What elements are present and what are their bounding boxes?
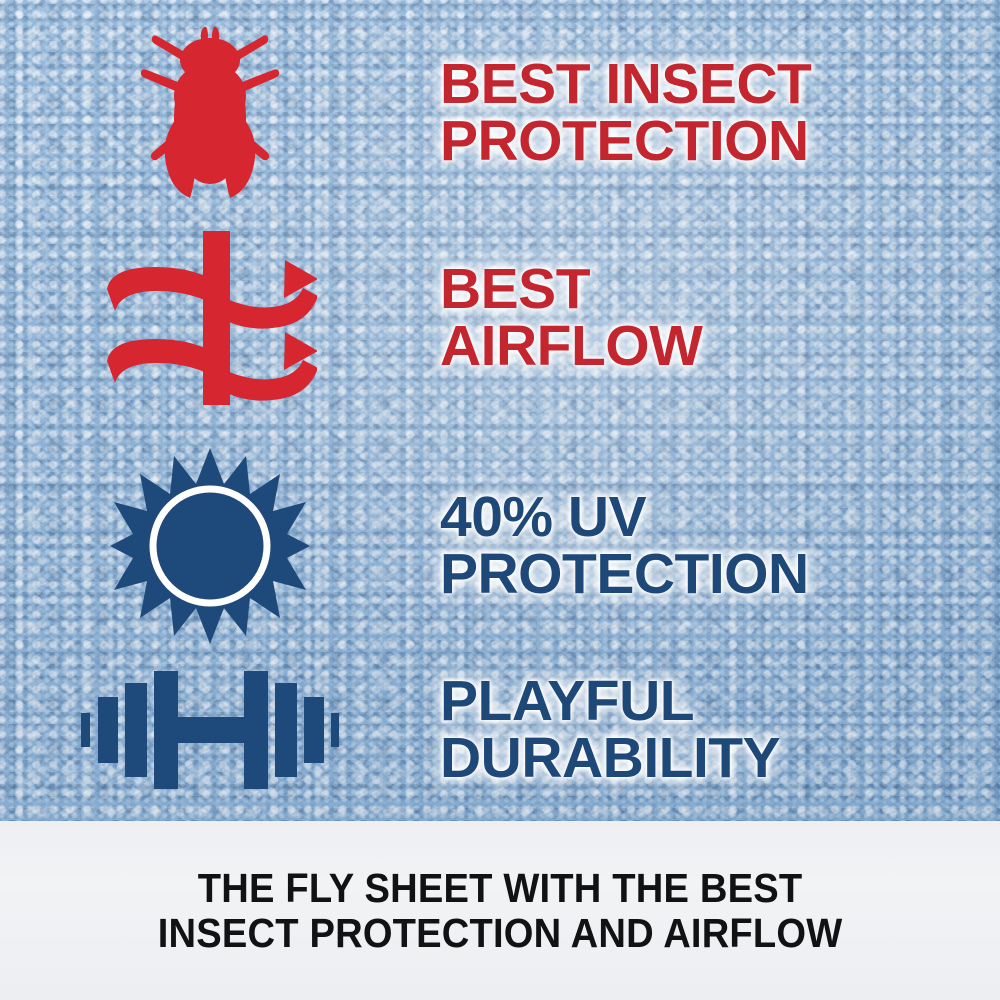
feature-text-line: 40% UV (440, 489, 1000, 546)
caption-line: INSECT PROTECTION AND AIRFLOW (158, 911, 843, 955)
feature-icon-cell (0, 438, 420, 653)
caption-band: THE FLY SHEET WITH THE BEST INSECT PROTE… (0, 821, 1000, 1000)
fly-icon (135, 24, 285, 202)
feature-text-line: PROTECTION (440, 113, 1000, 170)
feature-row-durability: PLAYFUL DURABILITY (0, 650, 1000, 810)
feature-text-line: DURABILITY (440, 730, 1000, 787)
feature-list: BEST INSECT PROTECTION (0, 0, 1000, 821)
feature-text-line: AIRFLOW (440, 318, 1000, 375)
feature-text-line: PLAYFUL (440, 673, 1000, 730)
feature-text-line: PROTECTION (440, 546, 1000, 603)
sun-icon (110, 446, 310, 646)
dumbbell-icon (81, 669, 339, 791)
feature-icon-cell (0, 650, 420, 810)
airflow-arrows-icon (103, 229, 317, 407)
feature-row-uv-protection: 40% UV PROTECTION (0, 438, 1000, 653)
feature-text-cell: PLAYFUL DURABILITY (420, 673, 1000, 787)
feature-text-cell: 40% UV PROTECTION (420, 489, 1000, 603)
feature-text-cell: BEST INSECT PROTECTION (420, 56, 1000, 170)
feature-text-cell: BEST AIRFLOW (420, 261, 1000, 375)
feature-icon-cell (0, 218, 420, 418)
product-feature-poster: BEST INSECT PROTECTION (0, 0, 1000, 1000)
feature-text-line: BEST INSECT (440, 56, 1000, 113)
feature-text-line: BEST (440, 261, 1000, 318)
feature-icon-cell (0, 18, 420, 208)
feature-row-insect-protection: BEST INSECT PROTECTION (0, 18, 1000, 208)
caption-line: THE FLY SHEET WITH THE BEST (198, 866, 803, 910)
feature-row-airflow: BEST AIRFLOW (0, 218, 1000, 418)
